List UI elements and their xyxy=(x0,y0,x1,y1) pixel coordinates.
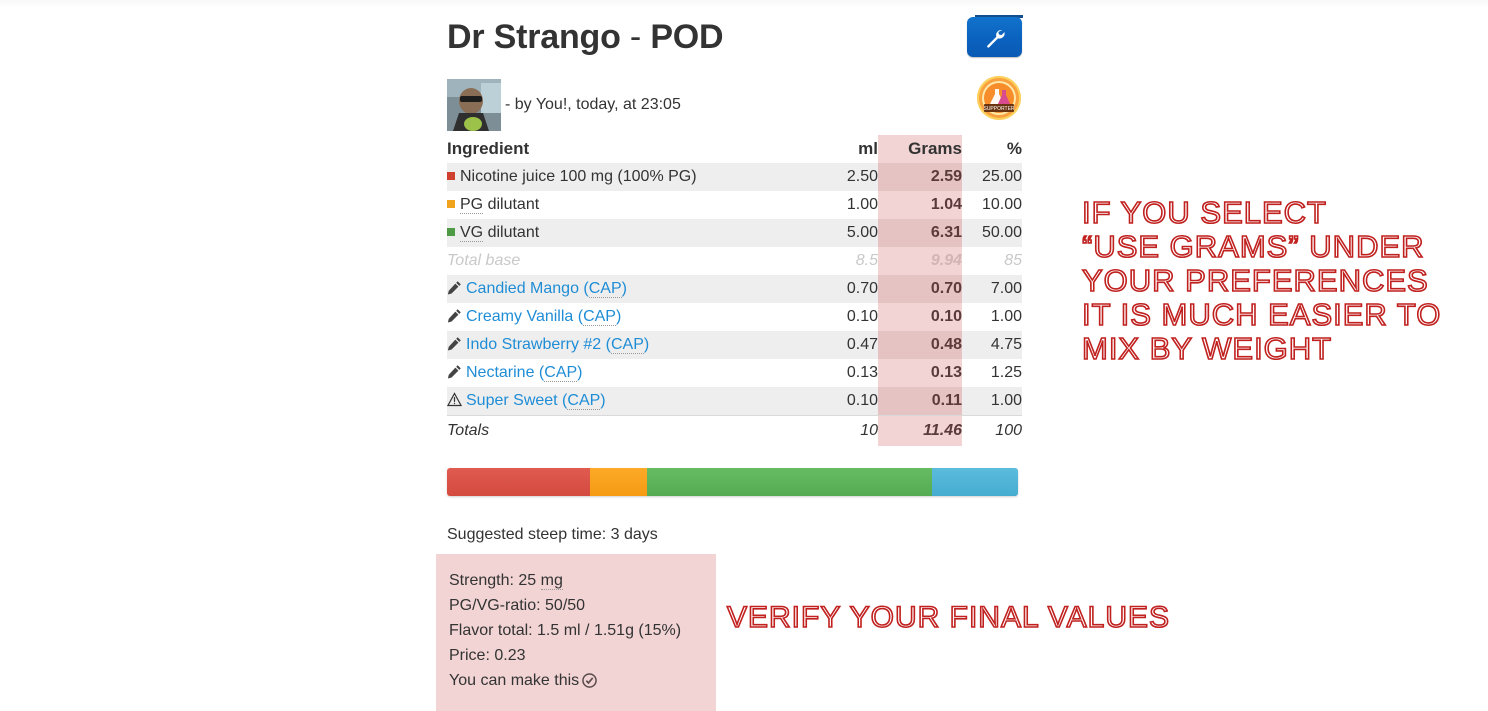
col-header-grams: Grams xyxy=(878,135,962,163)
table-row: VG dilutant 5.00 6.31 50.00 xyxy=(447,219,1022,247)
cell-grams: 0.48 xyxy=(878,331,962,359)
ingredient-name: Candied Mango xyxy=(466,280,579,297)
warning-icon[interactable] xyxy=(447,392,463,407)
col-header-ml: ml xyxy=(806,135,878,163)
ingredient-link[interactable]: Nectarine (CAP) xyxy=(466,364,583,382)
cell-ml: 0.47 xyxy=(806,331,878,359)
table-row: Super Sweet (CAP) 0.10 0.11 1.00 xyxy=(447,387,1022,416)
cell-grams: 6.31 xyxy=(878,219,962,247)
page-root: Dr Strango - POD xyxy=(0,0,1488,711)
wrench-icon xyxy=(984,26,1006,48)
cell-percent: 85 xyxy=(962,247,1022,275)
abbr-vendor[interactable]: CAP xyxy=(583,308,616,326)
ingredient-name: dilutant xyxy=(483,196,539,213)
abbr-vendor[interactable]: CAP xyxy=(589,280,622,298)
table-row: Nicotine juice 100 mg (100% PG) 2.50 2.5… xyxy=(447,163,1022,191)
col-header-ingredient: Ingredient xyxy=(447,135,806,163)
cell-grams: 2.59 xyxy=(878,163,962,191)
ingredient-name: Indo Strawberry #2 xyxy=(466,336,601,353)
check-circle-icon xyxy=(582,671,597,696)
cell-percent: 25.00 xyxy=(962,163,1022,191)
recipe-suffix: POD xyxy=(650,18,723,56)
cell-ml: 0.10 xyxy=(806,303,878,331)
cell-ingredient: VG dilutant xyxy=(447,219,806,247)
cell-percent: 4.75 xyxy=(962,331,1022,359)
abbr-mg[interactable]: mg xyxy=(541,572,563,590)
pencil-icon[interactable] xyxy=(447,280,463,295)
table-row-total-base: Total base 8.5 9.94 85 xyxy=(447,247,1022,275)
cell-ingredient: PG dilutant xyxy=(447,191,806,219)
cell-grams: 0.13 xyxy=(878,359,962,387)
table-row: Indo Strawberry #2 (CAP) 0.47 0.48 4.75 xyxy=(447,331,1022,359)
avatar[interactable] xyxy=(447,79,501,131)
cell-grams: 1.04 xyxy=(878,191,962,219)
col-header-percent: % xyxy=(962,135,1022,163)
cell-ingredient: Nectarine (CAP) xyxy=(447,359,806,387)
table-row: PG dilutant 1.00 1.04 10.00 xyxy=(447,191,1022,219)
bar-segment-vg xyxy=(647,468,933,496)
ingredient-name: Nicotine juice 100 mg (100% PG) xyxy=(460,168,697,185)
bar-segment-pg xyxy=(590,468,647,496)
totals-label: Totals xyxy=(447,416,806,447)
cell-percent: 1.00 xyxy=(962,303,1022,331)
steep-time-text: Suggested steep time: 3 days xyxy=(447,526,1022,544)
byline-text: - by You!, today, at 23:05 xyxy=(505,96,681,114)
table-row-totals: Totals 10 11.46 100 xyxy=(447,416,1022,447)
can-make-line: You can make this xyxy=(449,668,716,696)
title-separator: - xyxy=(621,18,651,56)
ingredient-name: dilutant xyxy=(483,224,539,241)
cell-percent: 1.00 xyxy=(962,387,1022,416)
totals-grams: 11.46 xyxy=(878,416,962,447)
table-row: Candied Mango (CAP) 0.70 0.70 7.00 xyxy=(447,275,1022,303)
abbr-vendor[interactable]: CAP xyxy=(567,392,600,410)
cell-percent: 10.00 xyxy=(962,191,1022,219)
ingredient-name: Super Sweet xyxy=(466,392,558,409)
cell-ingredient: Nicotine juice 100 mg (100% PG) xyxy=(447,163,806,191)
ingredients-table: Ingredient ml Grams % Nicotine juice 100… xyxy=(447,135,1022,446)
table-body: Nicotine juice 100 mg (100% PG) 2.50 2.5… xyxy=(447,163,1022,446)
cell-ingredient: Indo Strawberry #2 (CAP) xyxy=(447,331,806,359)
cell-ml: 0.13 xyxy=(806,359,878,387)
cell-ml: 0.70 xyxy=(806,275,878,303)
bar-segment-flavor xyxy=(932,468,1018,496)
cell-percent: 1.25 xyxy=(962,359,1022,387)
square-red-icon xyxy=(447,172,455,180)
cell-grams: 0.70 xyxy=(878,275,962,303)
pgvg-line: PG/VG-ratio: 50/50 xyxy=(449,593,716,618)
cell-percent: 7.00 xyxy=(962,275,1022,303)
cell-grams: 9.94 xyxy=(878,247,962,275)
totals-percent: 100 xyxy=(962,416,1022,447)
cell-ml: 5.00 xyxy=(806,219,878,247)
abbr-vg[interactable]: VG xyxy=(460,224,483,242)
annotation-use-grams: If you select “use grams” under your pre… xyxy=(1082,196,1441,366)
recipe-panel: Dr Strango - POD xyxy=(447,0,1022,544)
cell-ml: 1.00 xyxy=(806,191,878,219)
title-row: Dr Strango - POD xyxy=(447,0,1022,66)
price-line: Price: 0.23 xyxy=(449,643,716,668)
cell-percent: 50.00 xyxy=(962,219,1022,247)
cell-ingredient: Candied Mango (CAP) xyxy=(447,275,806,303)
strength-label: Strength: 25 xyxy=(449,572,541,589)
table-head: Ingredient ml Grams % xyxy=(447,135,1022,163)
cell-grams: 0.11 xyxy=(878,387,962,416)
cell-ingredient: Super Sweet (CAP) xyxy=(447,387,806,416)
byline-row: - by You!, today, at 23:05 xyxy=(447,66,1022,128)
settings-button[interactable] xyxy=(967,17,1022,57)
cell-ingredient: Creamy Vanilla (CAP) xyxy=(447,303,806,331)
svg-text:SUPPORTER: SUPPORTER xyxy=(983,106,1014,112)
abbr-vendor[interactable]: CAP xyxy=(544,364,577,382)
ingredient-name: Creamy Vanilla xyxy=(466,308,573,325)
pencil-icon[interactable] xyxy=(447,364,463,379)
bar-segment-nicotine xyxy=(447,468,590,496)
abbr-pg[interactable]: PG xyxy=(460,196,483,214)
totals-ml: 10 xyxy=(806,416,878,447)
cell-ml: 8.5 xyxy=(806,247,878,275)
cell-ml: 2.50 xyxy=(806,163,878,191)
ingredient-name: Nectarine xyxy=(466,364,534,381)
table-row: Creamy Vanilla (CAP) 0.10 0.10 1.00 xyxy=(447,303,1022,331)
square-orange-icon xyxy=(447,200,455,208)
table-row: Nectarine (CAP) 0.13 0.13 1.25 xyxy=(447,359,1022,387)
pencil-icon[interactable] xyxy=(447,308,463,323)
recipe-name: Dr Strango xyxy=(447,18,621,56)
pencil-icon[interactable] xyxy=(447,336,463,351)
cell-grams: 0.10 xyxy=(878,303,962,331)
page-title: Dr Strango - POD xyxy=(447,18,723,57)
summary-box: Strength: 25 mg PG/VG-ratio: 50/50 Flavo… xyxy=(436,554,716,711)
ingredient-link[interactable]: Candied Mango (CAP) xyxy=(466,280,627,298)
supporter-badge-icon: SUPPORTER xyxy=(976,74,1022,122)
composition-bar xyxy=(447,468,1018,496)
abbr-vendor[interactable]: CAP xyxy=(611,336,644,354)
ingredient-link[interactable]: Creamy Vanilla (CAP) xyxy=(466,308,621,326)
flavor-total-line: Flavor total: 1.5 ml / 1.51g (15%) xyxy=(449,618,716,643)
square-green-icon xyxy=(447,228,455,236)
ingredient-link[interactable]: Indo Strawberry #2 (CAP) xyxy=(466,336,649,354)
ingredient-link[interactable]: Super Sweet (CAP) xyxy=(466,392,606,410)
cell-ml: 0.10 xyxy=(806,387,878,416)
table-header-row: Ingredient ml Grams % xyxy=(447,135,1022,163)
annotation-verify: Verify your final values xyxy=(727,601,1170,635)
cell-ingredient: Total base xyxy=(447,247,806,275)
strength-line: Strength: 25 mg xyxy=(449,568,716,593)
can-make-label: You can make this xyxy=(449,672,579,689)
